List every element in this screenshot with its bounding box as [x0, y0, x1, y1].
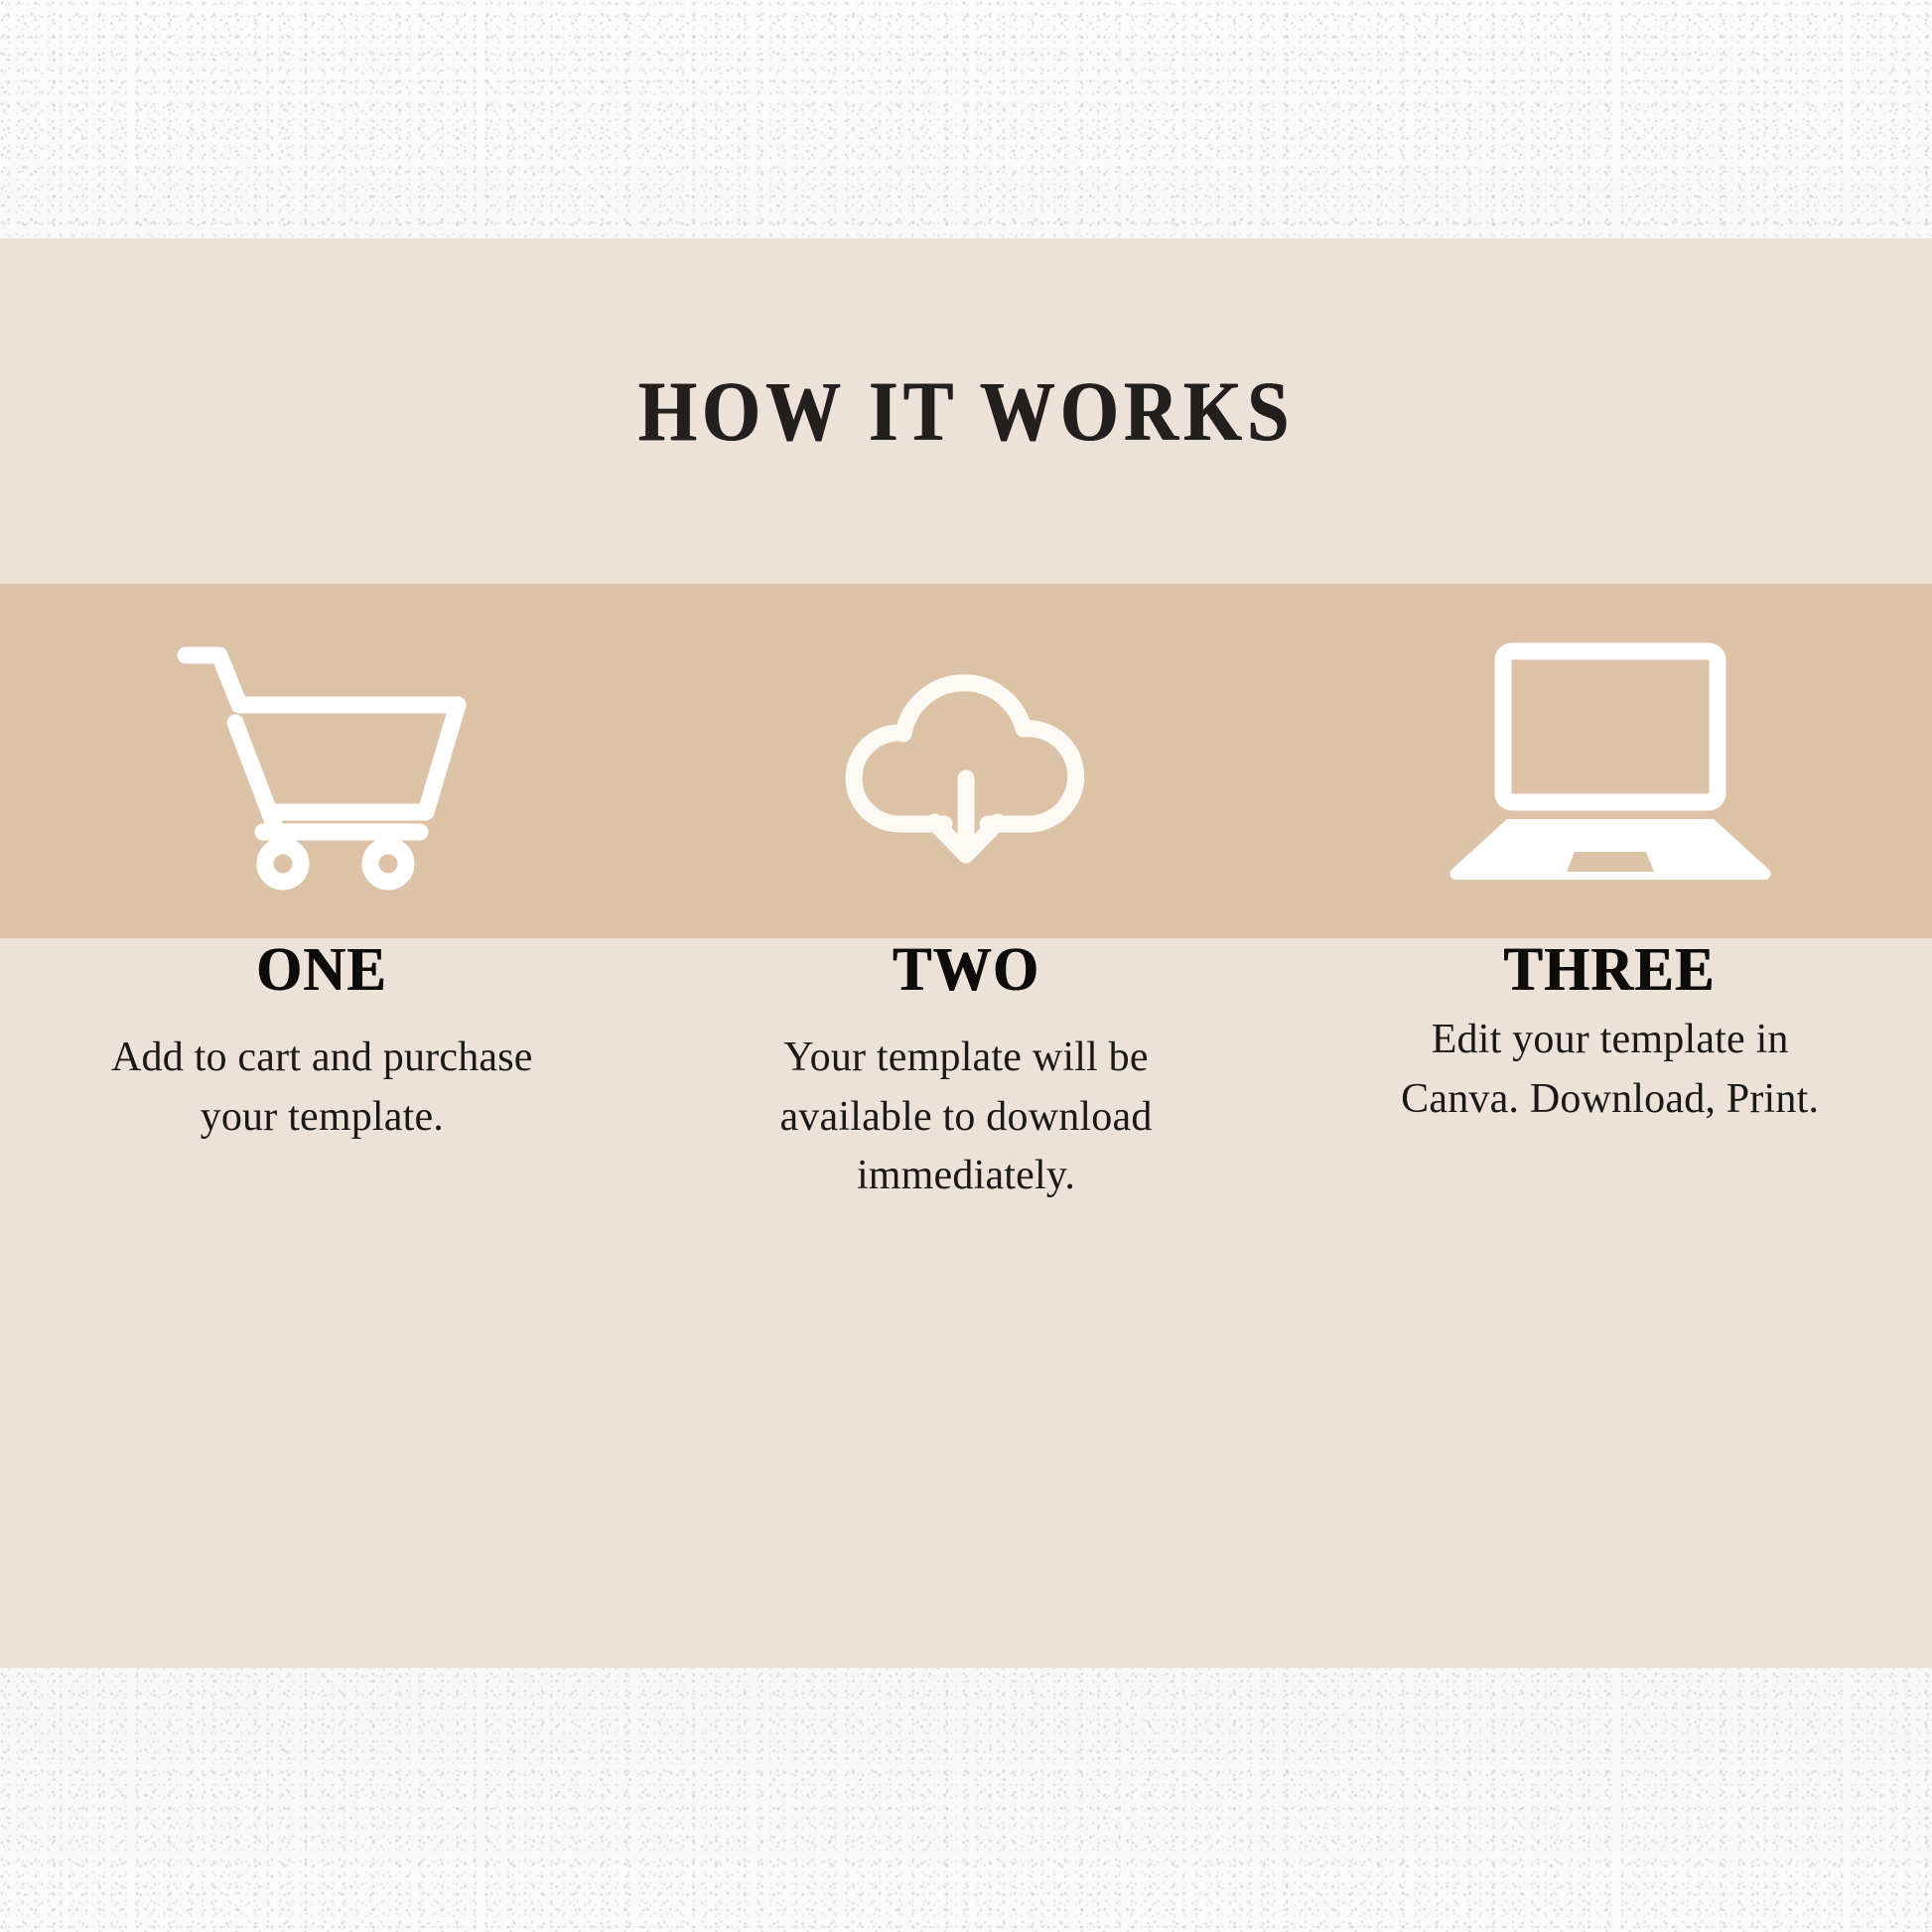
step-three-title: THREE — [1342, 938, 1878, 1003]
icon-cell-one — [0, 584, 644, 938]
step-one-body: Add to cart and purchase your template. — [88, 1029, 555, 1147]
title-section: HOW IT WORKS — [0, 238, 1932, 584]
step-one-title: ONE — [54, 938, 590, 1003]
page-title: HOW IT WORKS — [638, 368, 1295, 454]
laptop-icon — [1442, 637, 1779, 886]
icon-cell-two — [644, 584, 1289, 938]
step-three: THREE Edit your template in Canva. Downl… — [1288, 938, 1932, 1206]
step-three-body: Edit your template in Canva. Download, P… — [1377, 1011, 1844, 1129]
shopping-cart-icon — [178, 637, 466, 886]
step-one: ONE Add to cart and purchase your templa… — [0, 938, 644, 1206]
steps-row: ONE Add to cart and purchase your templa… — [0, 938, 1932, 1206]
icon-band — [0, 584, 1932, 938]
infographic-canvas: HOW IT WORKS — [0, 0, 1932, 1932]
icon-cell-three — [1288, 584, 1932, 938]
step-two-title: TWO — [698, 938, 1234, 1003]
step-two: TWO Your template will be available to d… — [644, 938, 1289, 1206]
step-two-body: Your template will be available to downl… — [758, 1029, 1174, 1206]
content-panel: HOW IT WORKS — [0, 238, 1932, 1668]
cloud-download-icon — [842, 637, 1090, 886]
